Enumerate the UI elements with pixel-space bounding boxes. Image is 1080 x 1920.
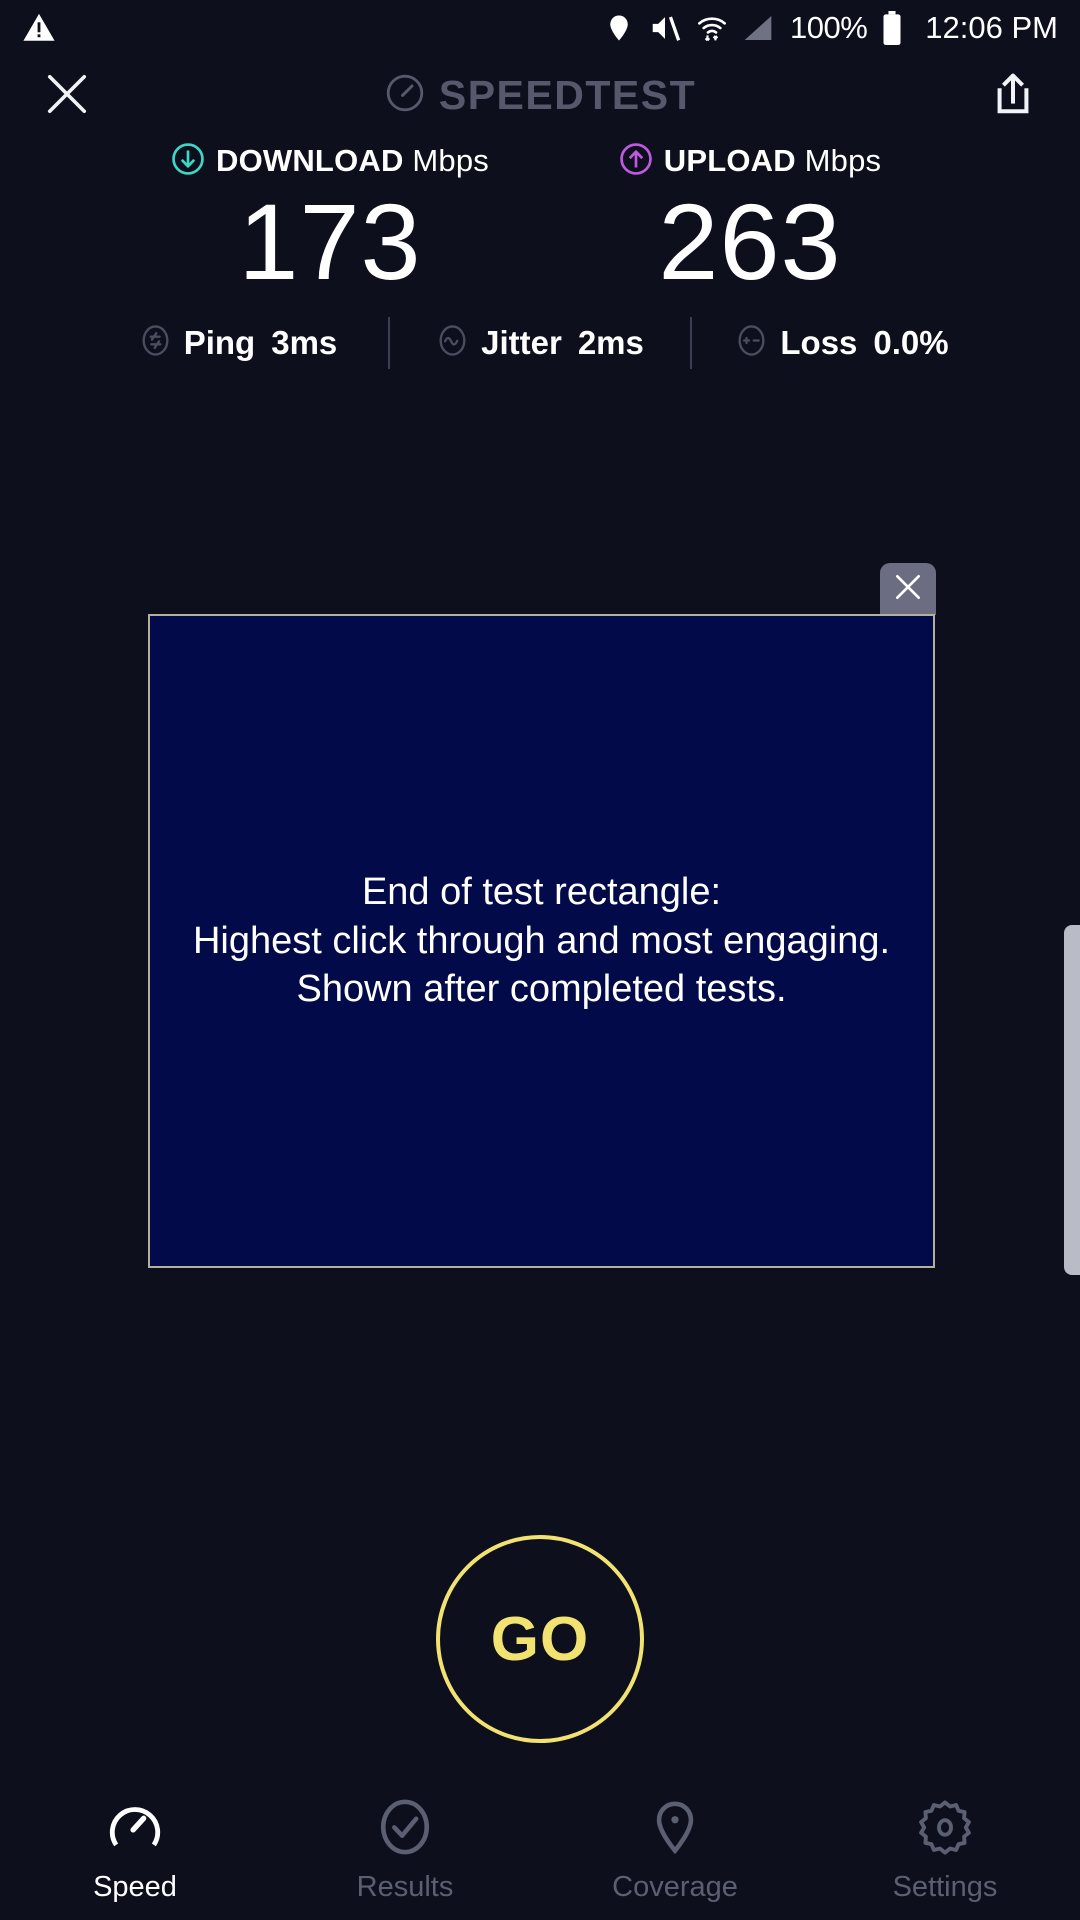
connection-stats-row: Ping 3ms Jitter 2ms: [0, 315, 1080, 371]
speed-values-row: DOWNLOAD Mbps 173 UPLOAD Mbps 263: [0, 140, 1080, 301]
download-arrow-icon: [171, 142, 205, 181]
battery-percent-label: 100%: [790, 10, 867, 46]
nav-item-coverage[interactable]: Coverage: [540, 1798, 810, 1904]
mute-icon: [648, 13, 682, 43]
loss-icon: [735, 324, 768, 362]
speedtest-app-screen: 100% 12:06 PM SPEEDTEST: [0, 0, 1080, 1920]
speedometer-icon: [106, 1798, 164, 1861]
wifi-icon: [696, 12, 728, 44]
advertisement-banner[interactable]: End of test rectangle: Highest click thr…: [148, 614, 935, 1268]
loss-stat: Loss 0.0%: [692, 324, 992, 362]
nav-item-results[interactable]: Results: [270, 1798, 540, 1904]
page-scrollbar[interactable]: [1064, 925, 1080, 1275]
download-value: 173: [120, 184, 540, 301]
status-bar: 100% 12:06 PM: [0, 0, 1080, 55]
download-label: DOWNLOAD Mbps: [216, 143, 489, 179]
ping-label: Ping: [184, 324, 256, 362]
nav-label-speed: Speed: [93, 1871, 177, 1904]
ping-value: 3ms: [271, 324, 337, 362]
upload-metric: UPLOAD Mbps 263: [540, 140, 960, 301]
check-circle-icon: [376, 1798, 434, 1861]
upload-header: UPLOAD Mbps: [540, 140, 960, 182]
ad-line-1: End of test rectangle:: [150, 868, 933, 917]
test-results: DOWNLOAD Mbps 173 UPLOAD Mbps 263: [0, 140, 1080, 371]
share-icon: [991, 71, 1035, 122]
upload-label: UPLOAD Mbps: [664, 143, 882, 179]
cell-signal-icon: [742, 13, 774, 43]
nav-label-coverage: Coverage: [612, 1871, 738, 1904]
gear-icon: [916, 1798, 974, 1861]
ping-icon: [139, 324, 172, 362]
ad-close-button[interactable]: [880, 563, 936, 615]
bottom-navigation: Speed Results Coverage: [0, 1790, 1080, 1920]
download-metric: DOWNLOAD Mbps 173: [120, 140, 540, 301]
upload-arrow-icon: [619, 142, 653, 181]
nav-item-settings[interactable]: Settings: [810, 1798, 1080, 1904]
brand-name: SPEEDTEST: [439, 72, 696, 119]
battery-full-icon: [881, 11, 903, 45]
nav-label-settings: Settings: [893, 1871, 998, 1904]
brand-title: SPEEDTEST: [0, 55, 1080, 135]
speedometer-icon: [384, 72, 426, 119]
warning-triangle-icon: [22, 11, 56, 45]
jitter-stat: Jitter 2ms: [390, 324, 690, 362]
ad-line-2: Highest click through and most engaging.: [150, 917, 933, 966]
app-header: SPEEDTEST: [0, 55, 1080, 135]
jitter-icon: [436, 324, 469, 362]
location-pin-icon: [604, 13, 634, 43]
nav-label-results: Results: [357, 1871, 454, 1904]
jitter-value: 2ms: [578, 324, 644, 362]
status-bar-clock: 12:06 PM: [925, 10, 1058, 46]
ad-text: End of test rectangle: Highest click thr…: [150, 868, 933, 1014]
ping-stat: Ping 3ms: [88, 324, 388, 362]
location-pin-icon: [646, 1798, 704, 1861]
download-header: DOWNLOAD Mbps: [120, 140, 540, 182]
nav-item-speed[interactable]: Speed: [0, 1798, 270, 1904]
status-bar-right: 100% 12:06 PM: [604, 10, 1058, 46]
upload-value: 263: [540, 184, 960, 301]
close-icon: [892, 571, 924, 608]
go-button-label: GO: [491, 1604, 589, 1675]
loss-label: Loss: [780, 324, 857, 362]
status-bar-left: [22, 11, 56, 45]
go-button[interactable]: GO: [436, 1535, 644, 1743]
loss-value: 0.0%: [873, 324, 948, 362]
jitter-label: Jitter: [481, 324, 562, 362]
ad-line-3: Shown after completed tests.: [150, 965, 933, 1014]
share-button[interactable]: [978, 61, 1048, 131]
